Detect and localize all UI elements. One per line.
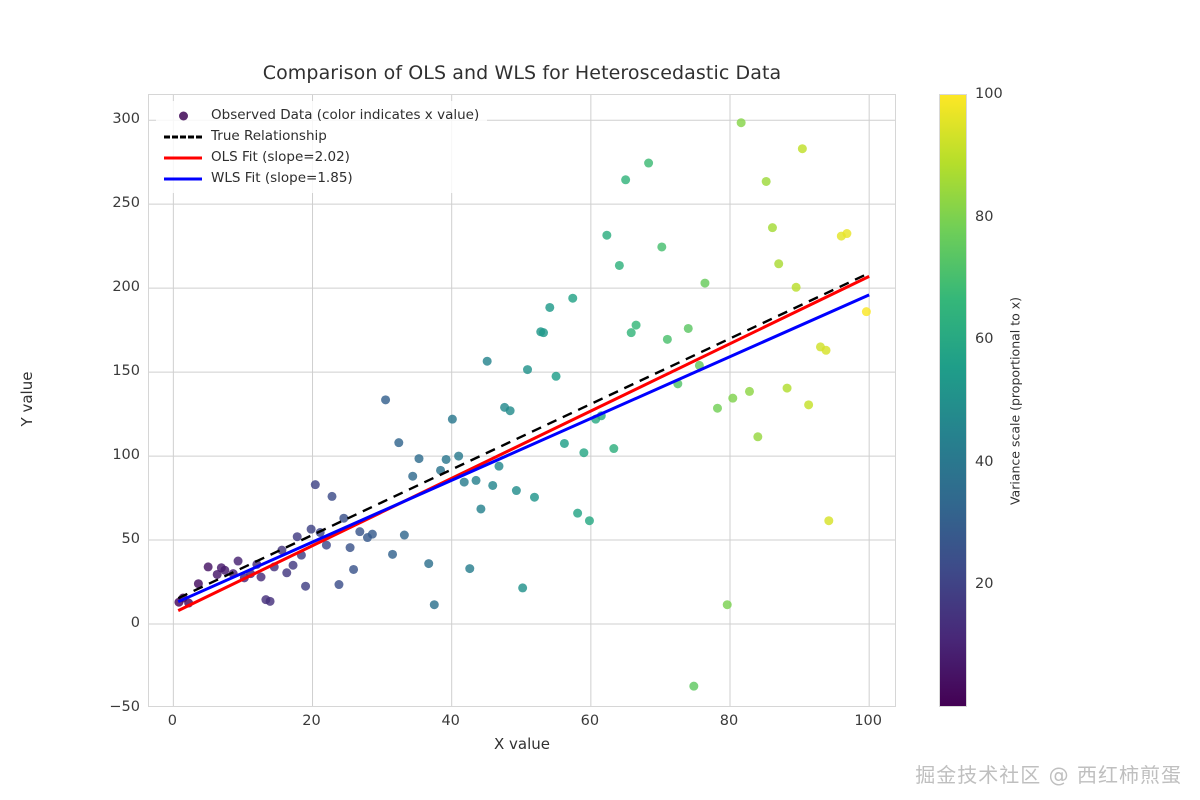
scatter-point: [560, 439, 569, 448]
scatter-point: [632, 321, 641, 330]
scatter-point: [301, 582, 310, 591]
scatter-point: [488, 481, 497, 490]
scatter-point: [293, 532, 302, 541]
scatter-point: [552, 372, 561, 381]
colorbar-label: Variance scale (proportional to x): [1008, 241, 1023, 561]
legend-item-observed-data[interactable]: Observed Data (color indicates x value): [162, 105, 479, 126]
scatter-point: [381, 395, 390, 404]
y-tick-label: −50: [78, 699, 140, 715]
scatter-point: [822, 346, 831, 355]
figure-canvas: Comparison of OLS and WLS for Heterosced…: [0, 0, 1200, 800]
scatter-point: [753, 432, 762, 441]
y-tick-label: 300: [78, 111, 140, 127]
scatter-point: [804, 400, 813, 409]
scatter-point: [762, 177, 771, 186]
scatter-point: [644, 159, 653, 168]
scatter-point: [346, 543, 355, 552]
scatter-point: [568, 294, 577, 303]
scatter-point: [460, 478, 469, 487]
colorbar-tick-label: 100: [975, 86, 1003, 102]
scatter-point: [824, 516, 833, 525]
scatter-point: [862, 307, 871, 316]
scatter-point: [454, 452, 463, 461]
scatter-point: [311, 480, 320, 489]
y-tick-label: 0: [78, 615, 140, 631]
scatter-point: [307, 525, 316, 534]
scatter-point: [476, 504, 485, 513]
colorbar-tick-label: 60: [975, 331, 993, 347]
scatter-point: [472, 476, 481, 485]
scatter-point: [602, 231, 611, 240]
x-tick-label: 40: [421, 713, 481, 729]
colorbar-tick-label: 20: [975, 576, 993, 592]
scatter-point: [792, 283, 801, 292]
x-tick-label: 60: [560, 713, 620, 729]
scatter-point: [334, 580, 343, 589]
scatter-point: [355, 527, 364, 536]
scatter-point: [657, 242, 666, 251]
scatter-point: [349, 565, 358, 574]
scatter-point: [609, 444, 618, 453]
x-axis-label: X value: [148, 735, 896, 753]
fit-line: [178, 276, 869, 610]
scatter-point: [494, 462, 503, 471]
scatter-point: [579, 448, 588, 457]
scatter-point: [768, 223, 777, 232]
scatter-point: [414, 454, 423, 463]
x-tick-label: 20: [282, 713, 342, 729]
scatter-point: [700, 279, 709, 288]
scatter-point: [518, 583, 527, 592]
scatter-point: [627, 328, 636, 337]
legend-dashed-line-icon: [162, 126, 204, 147]
watermark: 掘金技术社区 @ 西红柿煎蛋: [915, 759, 1182, 788]
scatter-point: [266, 597, 275, 606]
scatter-point: [745, 387, 754, 396]
scatter-point: [585, 516, 594, 525]
scatter-point: [282, 568, 291, 577]
legend-line-icon: [162, 168, 204, 189]
scatter-point: [388, 550, 397, 559]
colorbar: [939, 94, 967, 707]
scatter-point: [713, 404, 722, 413]
page-title: Comparison of OLS and WLS for Heterosced…: [148, 62, 896, 84]
scatter-point: [448, 415, 457, 424]
scatter-point: [842, 229, 851, 238]
y-axis-label: Y value: [18, 299, 36, 499]
x-tick-label: 0: [142, 713, 202, 729]
scatter-point: [523, 365, 532, 374]
scatter-point: [783, 384, 792, 393]
legend-label: True Relationship: [211, 130, 327, 144]
scatter-point: [400, 531, 409, 540]
scatter-point: [723, 600, 732, 609]
y-tick-label: 50: [78, 531, 140, 547]
scatter-point: [506, 406, 515, 415]
y-tick-label: 250: [78, 195, 140, 211]
scatter-point: [430, 600, 439, 609]
scatter-point: [289, 561, 298, 570]
scatter-point: [368, 530, 377, 539]
legend-label: WLS Fit (slope=1.85): [211, 172, 353, 186]
colorbar-gradient: [939, 94, 967, 707]
fit-line: [178, 295, 869, 602]
scatter-point: [798, 144, 807, 153]
scatter-point: [545, 303, 554, 312]
scatter-point: [442, 455, 451, 464]
colorbar-tick-label: 80: [975, 209, 993, 225]
x-tick-label: 100: [838, 713, 898, 729]
legend-label: OLS Fit (slope=2.02): [211, 151, 350, 165]
colorbar-tick-label: 40: [975, 454, 993, 470]
legend-line-icon: [162, 147, 204, 168]
y-tick-label: 200: [78, 279, 140, 295]
scatter-point: [663, 335, 672, 344]
scatter-point: [530, 493, 539, 502]
scatter-point: [204, 562, 213, 571]
legend-dot-icon: [162, 105, 204, 126]
scatter-point: [539, 328, 548, 337]
scatter-point: [621, 175, 630, 184]
scatter-point: [327, 492, 336, 501]
scatter-point: [512, 486, 521, 495]
legend-label: Observed Data (color indicates x value): [211, 109, 479, 123]
scatter-point: [615, 261, 624, 270]
y-tick-label: 150: [78, 363, 140, 379]
y-tick-label: 100: [78, 447, 140, 463]
scatter-point: [483, 357, 492, 366]
scatter-point: [465, 564, 474, 573]
scatter-point: [689, 682, 698, 691]
legend-item-ols-fit[interactable]: OLS Fit (slope=2.02): [162, 147, 479, 168]
scatter-point: [234, 557, 243, 566]
scatter-point: [257, 573, 266, 582]
legend: Observed Data (color indicates x value)T…: [156, 101, 487, 193]
scatter-point: [737, 118, 746, 127]
scatter-point: [424, 559, 433, 568]
scatter-point: [394, 438, 403, 447]
x-tick-label: 80: [699, 713, 759, 729]
fit-lines: [178, 273, 869, 611]
legend-item-true-relationship[interactable]: True Relationship: [162, 126, 479, 147]
scatter-point: [408, 472, 417, 481]
scatter-point: [774, 259, 783, 268]
scatter-point: [573, 509, 582, 518]
scatter-point: [684, 324, 693, 333]
legend-item-wls-fit[interactable]: WLS Fit (slope=1.85): [162, 168, 479, 189]
scatter-point: [728, 394, 737, 403]
